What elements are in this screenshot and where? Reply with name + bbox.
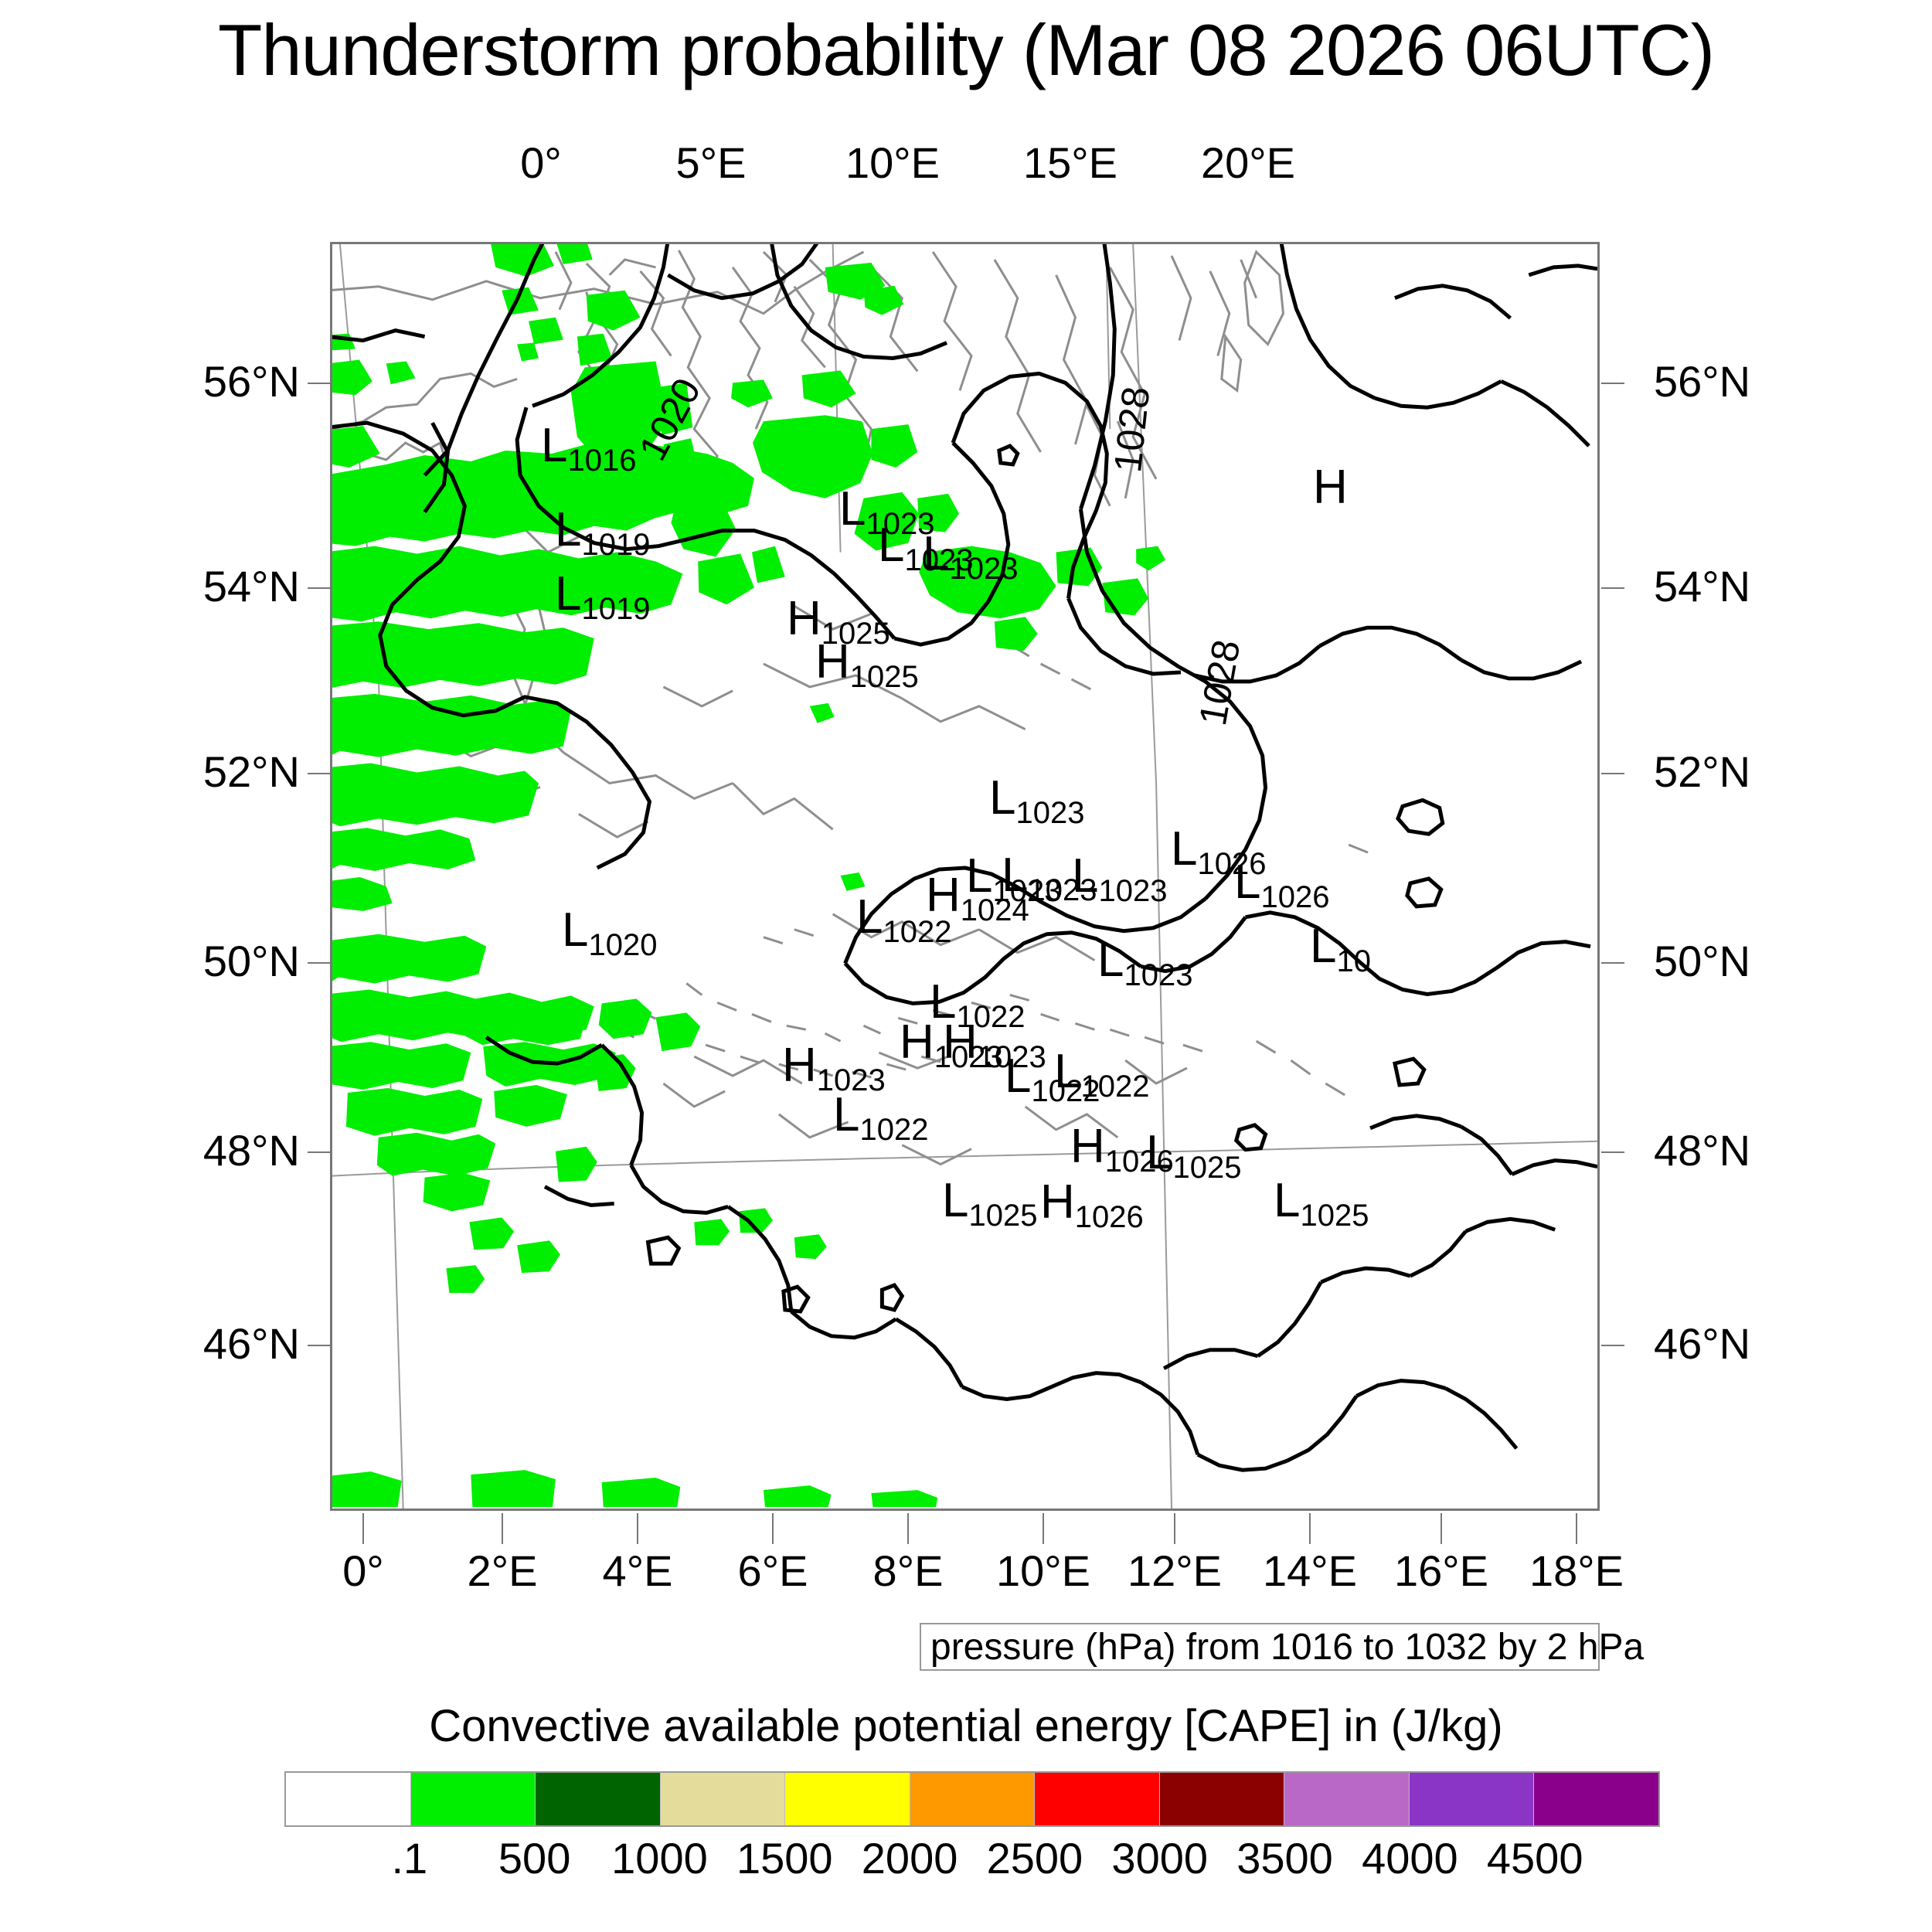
pressure-marker-type: L — [1274, 1174, 1300, 1227]
left-tickmark-2 — [308, 773, 331, 774]
bottom-tick-4 — [907, 1513, 909, 1544]
left-lat-tick-0: 56°N — [203, 356, 300, 406]
pressure-marker-value: 10 — [1336, 944, 1371, 978]
bottom-lon-tick-1: 2°E — [468, 1546, 538, 1596]
pressure-marker-low-10: L1023 — [989, 770, 1084, 825]
bottom-tick-7 — [1309, 1513, 1311, 1544]
pressure-marker-type: H — [900, 1015, 934, 1069]
pressure-marker-value: 1023 — [1098, 874, 1167, 908]
pressure-marker-value: 1022 — [1080, 1070, 1149, 1104]
bottom-lon-tick-6: 12°E — [1128, 1546, 1222, 1596]
bottom-lon-tick-8: 16°E — [1394, 1546, 1488, 1596]
pressure-marker-type: L — [878, 519, 904, 572]
colorbar-tick-7: 3500 — [1236, 1833, 1333, 1883]
pressure-marker-type: L — [1097, 934, 1124, 987]
bottom-tick-9 — [1576, 1513, 1577, 1544]
bottom-lon-tick-3: 6°E — [738, 1546, 808, 1596]
colorbar-cell-3[interactable] — [660, 1773, 785, 1825]
left-tickmark-1 — [308, 587, 331, 589]
left-lat-tick-4: 48°N — [203, 1125, 300, 1175]
right-lat-tick-5: 46°N — [1654, 1318, 1750, 1369]
pressure-marker-value: 1025 — [1172, 1151, 1241, 1185]
left-tickmark-4 — [308, 1151, 331, 1153]
colorbar-cell-0[interactable] — [286, 1773, 410, 1825]
colorbar-tick-8: 4000 — [1362, 1833, 1458, 1883]
pressure-marker-type: L — [1072, 849, 1098, 903]
pressure-marker-high-24: H1023 — [782, 1038, 886, 1093]
pressure-marker-value: 1022 — [859, 1113, 928, 1147]
left-tickmark-3 — [308, 962, 331, 964]
pressure-marker-type: L — [1005, 1049, 1031, 1103]
right-lat-tick-3: 50°N — [1654, 936, 1750, 986]
pressure-marker-value: 1019 — [581, 592, 650, 626]
pressure-marker-type: L — [839, 482, 866, 536]
colorbar-tick-0: .1 — [391, 1833, 427, 1883]
right-tickmark-1 — [1601, 587, 1624, 589]
colorbar-tick-1: 500 — [498, 1833, 570, 1883]
top-lon-tick-2: 10°E — [845, 138, 940, 188]
isobar-contours — [332, 244, 1597, 1470]
bottom-lon-tick-4: 8°E — [873, 1546, 944, 1596]
bottom-lon-tick-0: 0° — [342, 1546, 384, 1596]
pressure-marker-value: 1025 — [850, 660, 919, 694]
bottom-tick-6 — [1174, 1513, 1175, 1544]
pressure-marker-value: 1016 — [567, 444, 636, 478]
pressure-marker-type: L — [555, 503, 581, 556]
bottom-tick-0 — [362, 1513, 364, 1544]
isobar-label-1: 1028 — [1105, 384, 1158, 474]
right-lat-tick-2: 52°N — [1654, 747, 1750, 797]
top-lon-tick-0: 0° — [520, 138, 562, 188]
colorbar-tick-5: 2500 — [987, 1833, 1083, 1883]
colorbar-tick-2: 1000 — [611, 1833, 708, 1883]
pressure-marker-type: L — [541, 419, 567, 472]
bottom-lon-tick-2: 4°E — [603, 1546, 673, 1596]
pressure-marker-low-20: L1020 — [562, 903, 657, 957]
top-lon-tick-1: 5°E — [676, 138, 747, 188]
right-lat-tick-1: 54°N — [1654, 561, 1750, 611]
pressure-marker-low-18: L1023 — [1097, 933, 1192, 988]
pressure-marker-type: L — [833, 1088, 859, 1141]
right-tickmark-4 — [1601, 1151, 1624, 1153]
pressure-legend-text: pressure (hPa) from 1016 to 1032 by 2 hP… — [930, 1626, 1644, 1668]
right-tickmark-2 — [1601, 773, 1624, 774]
pressure-marker-value: 1023 — [949, 552, 1018, 586]
pressure-marker-value: 1020 — [588, 928, 657, 962]
left-lat-tick-5: 46°N — [203, 1318, 300, 1369]
pressure-marker-type: L — [1310, 920, 1336, 973]
pressure-marker-low-6: L1023 — [923, 526, 1018, 581]
top-lon-tick-4: 20°E — [1201, 138, 1295, 188]
pressure-marker-type: L — [942, 1174, 968, 1227]
bottom-lon-tick-5: 10°E — [996, 1546, 1090, 1596]
colorbar-cell-10[interactable] — [1533, 1773, 1658, 1825]
bottom-lon-tick-7: 14°E — [1263, 1546, 1357, 1596]
left-lat-tick-1: 54°N — [203, 561, 300, 611]
bottom-tick-5 — [1043, 1513, 1044, 1544]
pressure-marker-high-8: H1025 — [815, 634, 919, 689]
pressure-legend-box: pressure (hPa) from 1016 to 1032 by 2 hP… — [920, 1623, 1600, 1671]
top-lon-tick-3: 15°E — [1023, 138, 1117, 188]
colorbar-cell-5[interactable] — [910, 1773, 1035, 1825]
bottom-tick-3 — [772, 1513, 774, 1544]
pressure-marker-type: L — [1054, 1045, 1080, 1098]
pressure-marker-value: 1019 — [581, 528, 650, 562]
pressure-marker-value: 1025 — [968, 1199, 1037, 1233]
pressure-marker-type: H — [815, 635, 850, 689]
pressure-marker-value: 1022 — [883, 915, 951, 949]
colorbar-tick-labels: .150010001500200025003000350040004500 — [284, 1833, 1660, 1887]
colorbar-cell-4[interactable] — [784, 1773, 910, 1825]
colorbar[interactable] — [284, 1771, 1660, 1827]
right-tickmark-3 — [1601, 962, 1624, 964]
pressure-marker-low-19: L10 — [1310, 919, 1371, 974]
page-title: Thunderstorm probability (Mar 08 2026 06… — [0, 14, 1932, 87]
colorbar-cell-6[interactable] — [1034, 1773, 1159, 1825]
pressure-marker-type: L — [562, 903, 588, 957]
colorbar-cell-1[interactable] — [410, 1773, 536, 1825]
colorbar-tick-4: 2000 — [862, 1833, 958, 1883]
right-lat-tick-4: 48°N — [1654, 1125, 1750, 1175]
pressure-marker-type: H — [782, 1039, 817, 1092]
bottom-tick-2 — [637, 1513, 638, 1544]
pressure-marker-low-30: L1025 — [942, 1173, 1037, 1228]
pressure-marker-type: L — [989, 771, 1015, 825]
pressure-marker-value: 1026 — [1075, 1200, 1144, 1234]
bottom-tick-1 — [502, 1513, 503, 1544]
colorbar-cell-8[interactable] — [1284, 1773, 1409, 1825]
pressure-marker-low-2: L1019 — [555, 566, 650, 621]
pressure-marker-low-15: L1023 — [1072, 849, 1167, 903]
colorbar-tick-9: 4500 — [1487, 1833, 1583, 1883]
pressure-marker-low-17: L1022 — [856, 889, 951, 944]
bottom-tick-8 — [1440, 1513, 1442, 1544]
pressure-marker-value: 1023 — [1015, 796, 1084, 830]
pressure-marker-value: 1026 — [1260, 880, 1329, 914]
colorbar-tick-6: 3000 — [1111, 1833, 1208, 1883]
left-lat-tick-3: 50°N — [203, 936, 300, 986]
pressure-marker-type: H — [1313, 461, 1348, 514]
colorbar-tick-3: 1500 — [736, 1833, 833, 1883]
pressure-marker-type: L — [1146, 1126, 1172, 1179]
colorbar-cell-7[interactable] — [1159, 1773, 1284, 1825]
pressure-marker-type: L — [1171, 822, 1197, 876]
pressure-marker-value: 1025 — [1300, 1199, 1369, 1233]
bottom-lon-tick-9: 18°E — [1529, 1546, 1624, 1596]
colorbar-cell-2[interactable] — [535, 1773, 660, 1825]
pressure-marker-type: L — [923, 527, 949, 580]
colorbar-cell-9[interactable] — [1409, 1773, 1534, 1825]
pressure-marker-value: 1024 — [961, 893, 1029, 927]
pressure-marker-type: H — [1070, 1120, 1105, 1173]
pressure-marker-type: H — [943, 1015, 978, 1069]
pressure-marker-low-27: L1022 — [833, 1087, 928, 1142]
right-tickmark-5 — [1601, 1345, 1624, 1346]
right-lat-tick-0: 56°N — [1654, 356, 1750, 406]
pressure-marker-high-9: H — [1313, 460, 1348, 515]
pressure-marker-high-31: H1026 — [1040, 1175, 1144, 1230]
pressure-marker-type: L — [555, 567, 581, 621]
left-tickmark-5 — [308, 1345, 331, 1346]
pressure-marker-low-12: L1026 — [1234, 855, 1329, 910]
pressure-marker-low-29: L1025 — [1146, 1125, 1241, 1180]
pressure-marker-type: H — [1040, 1175, 1075, 1229]
pressure-marker-value: 1023 — [1124, 958, 1192, 992]
left-lat-tick-2: 52°N — [203, 747, 300, 797]
pressure-marker-type: L — [1234, 855, 1260, 909]
right-tickmark-0 — [1601, 383, 1624, 384]
pressure-marker-low-1: L1019 — [555, 502, 650, 557]
pressure-marker-type: L — [856, 890, 883, 944]
pressure-marker-low-32: L1025 — [1274, 1173, 1369, 1228]
pressure-marker-low-26: L1022 — [1054, 1044, 1149, 1099]
pressure-marker-low-0: L1016 — [541, 418, 636, 473]
colorbar-title: Convective available potential energy [C… — [0, 1700, 1932, 1752]
left-tickmark-0 — [308, 383, 331, 384]
